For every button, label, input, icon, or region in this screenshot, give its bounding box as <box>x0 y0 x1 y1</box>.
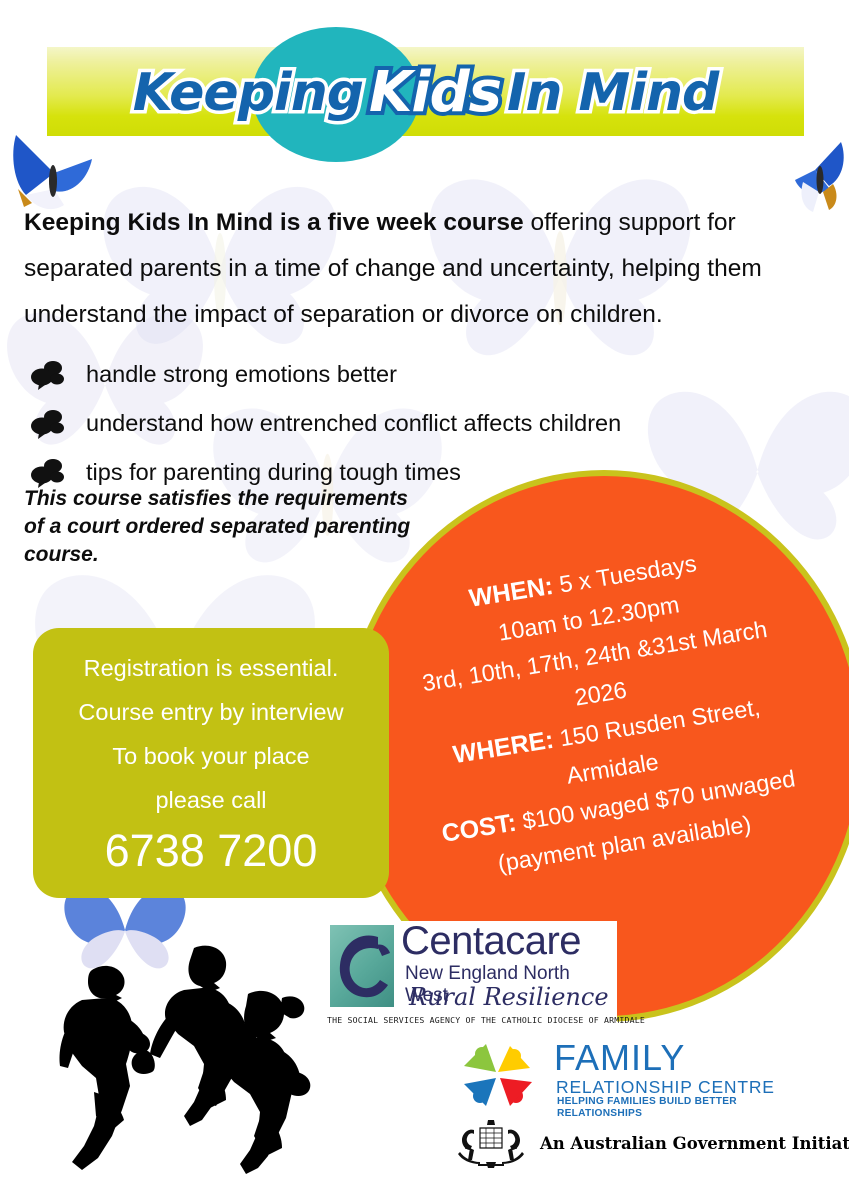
benefits-list: handle strong emotions better understand… <box>24 352 744 499</box>
intro-bold-lead: Keeping Kids In Mind is a five week cour… <box>24 209 524 236</box>
court-requirement-note: This course satisfies the requirements o… <box>24 485 424 569</box>
poster-canvas: Keeping Kids In Mind Keeping Kids In Min… <box>0 0 849 1200</box>
family-relationship-centre-logo: FAMILY RELATIONSHIP CENTRE HELPING FAMIL… <box>448 1040 793 1112</box>
centacare-mark-icon <box>330 925 394 1007</box>
speech-bubbles-icon <box>24 458 86 488</box>
frc-tagline: HELPING FAMILIES BUILD BETTER RELATIONSH… <box>557 1096 793 1120</box>
government-initiative-text: An Australian Government Initiative <box>540 1134 849 1154</box>
frc-subtitle: RELATIONSHIP CENTRE <box>556 1077 775 1097</box>
australian-coat-of-arms-icon <box>450 1118 532 1175</box>
registration-line-4: please call <box>155 778 266 822</box>
list-item-label: tips for parenting during tough times <box>86 460 461 486</box>
centacare-name: Centacare <box>401 919 581 963</box>
header-title: Keeping Kids In Mind <box>47 40 804 145</box>
list-item: handle strong emotions better <box>24 352 744 398</box>
running-children-silhouette-icon <box>34 940 314 1195</box>
registration-line-1: Registration is essential. <box>84 646 339 690</box>
list-item: understand how entrenched conflict affec… <box>24 401 744 447</box>
registration-box: Registration is essential. Course entry … <box>33 628 389 898</box>
header-word-kids: Kids <box>369 60 501 125</box>
centacare-logo: Centacare New England North West Rural R… <box>325 921 617 1031</box>
registration-line-3: To book your place <box>112 734 309 778</box>
centacare-tagline: THE SOCIAL SERVICES AGENCY OF THE CATHOL… <box>327 1015 615 1025</box>
speech-bubbles-icon <box>24 360 86 390</box>
list-item-label: understand how entrenched conflict affec… <box>86 411 621 437</box>
header-word-inmind: In Mind <box>507 67 718 119</box>
centacare-program: Rural Resilience <box>409 984 609 1010</box>
list-item-label: handle strong emotions better <box>86 362 397 388</box>
speech-bubbles-icon <box>24 409 86 439</box>
frc-pinwheel-icon <box>452 1042 544 1115</box>
government-endorsement: An Australian Government Initiative <box>448 1118 798 1170</box>
phone-number[interactable]: 6738 7200 <box>105 822 318 880</box>
intro-paragraph: Keeping Kids In Mind is a five week cour… <box>24 200 830 338</box>
header-word-keeping: Keeping <box>133 67 363 119</box>
frc-title: FAMILY <box>554 1038 685 1078</box>
registration-line-2: Course entry by interview <box>78 690 343 734</box>
details-text: WHEN: 5 x Tuesdays 10am to 12.30pm 3rd, … <box>353 526 849 954</box>
